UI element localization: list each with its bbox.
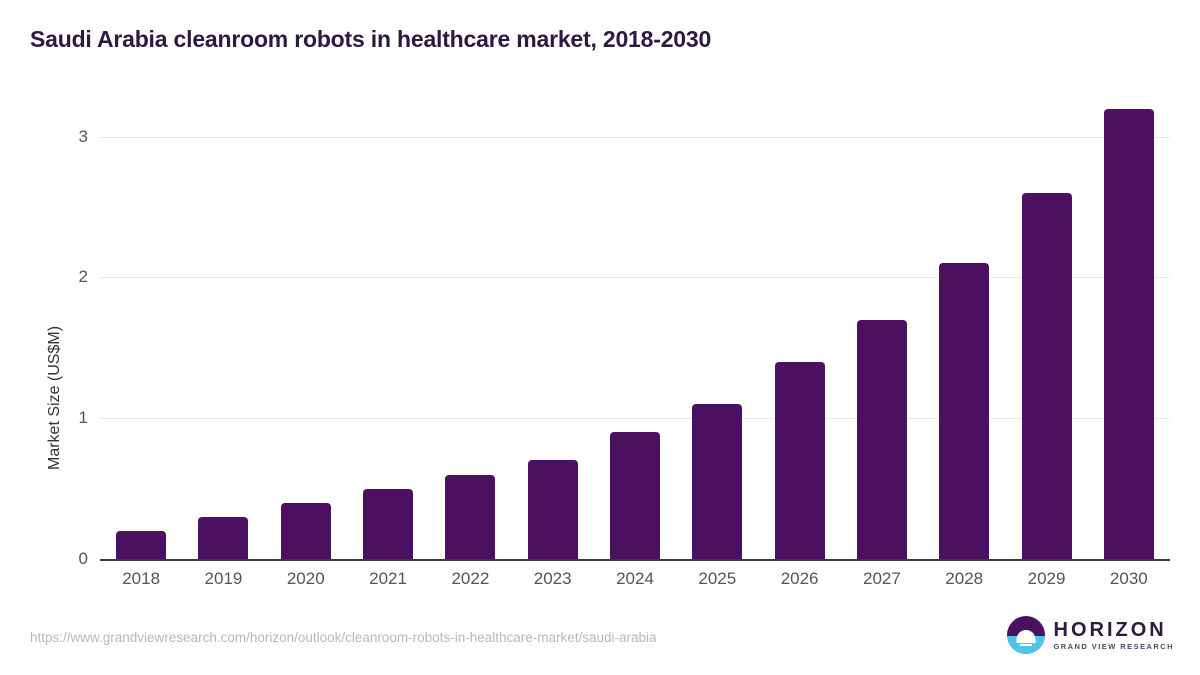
bar-2022[interactable]	[445, 475, 495, 559]
logo-wordmark: HORIZON	[1054, 620, 1174, 640]
logo-line-upper	[1016, 640, 1035, 643]
bar-2021[interactable]	[363, 489, 413, 559]
bar-series	[100, 110, 1170, 559]
horizon-logo: HORIZON GRAND VIEW RESEARCH	[1007, 616, 1174, 654]
x-tick-label-2022: 2022	[428, 569, 512, 589]
x-tick-label-2030: 2030	[1087, 569, 1171, 589]
x-tick-label-2028: 2028	[922, 569, 1006, 589]
bar-2018[interactable]	[116, 531, 166, 559]
x-tick-label-2018: 2018	[99, 569, 183, 589]
x-axis-line	[100, 559, 1170, 561]
bar-2030[interactable]	[1104, 109, 1154, 559]
plot-area	[100, 110, 1170, 559]
y-tick-label-0: 0	[48, 549, 88, 569]
page-title: Saudi Arabia cleanroom robots in healthc…	[30, 26, 711, 53]
y-tick-label-2: 2	[48, 267, 88, 287]
y-tick-label-1: 1	[48, 408, 88, 428]
bar-2028[interactable]	[939, 263, 989, 559]
logo-dome-shape	[1016, 630, 1035, 640]
bar-2026[interactable]	[775, 362, 825, 559]
x-tick-label-2029: 2029	[1005, 569, 1089, 589]
x-tick-label-2023: 2023	[511, 569, 595, 589]
logo-text-block: HORIZON GRAND VIEW RESEARCH	[1054, 620, 1174, 651]
horizon-logo-icon	[1007, 616, 1045, 654]
bar-2025[interactable]	[692, 404, 742, 559]
bar-2020[interactable]	[281, 503, 331, 559]
source-url[interactable]: https://www.grandviewresearch.com/horizo…	[30, 630, 657, 645]
y-axis-title: Market Size (US$M)	[46, 326, 64, 470]
x-tick-label-2019: 2019	[181, 569, 265, 589]
x-tick-label-2021: 2021	[346, 569, 430, 589]
bar-2027[interactable]	[857, 320, 907, 559]
bar-2023[interactable]	[528, 460, 578, 559]
bar-2029[interactable]	[1022, 193, 1072, 559]
x-tick-label-2025: 2025	[675, 569, 759, 589]
x-tick-label-2027: 2027	[840, 569, 924, 589]
bar-2019[interactable]	[198, 517, 248, 559]
x-tick-label-2026: 2026	[758, 569, 842, 589]
logo-line-lower	[1020, 644, 1032, 647]
y-tick-label-3: 3	[48, 127, 88, 147]
x-tick-label-2024: 2024	[593, 569, 677, 589]
chart-page: Saudi Arabia cleanroom robots in healthc…	[0, 0, 1200, 675]
logo-tagline: GRAND VIEW RESEARCH	[1054, 643, 1174, 651]
x-tick-label-2020: 2020	[264, 569, 348, 589]
bar-2024[interactable]	[610, 432, 660, 559]
